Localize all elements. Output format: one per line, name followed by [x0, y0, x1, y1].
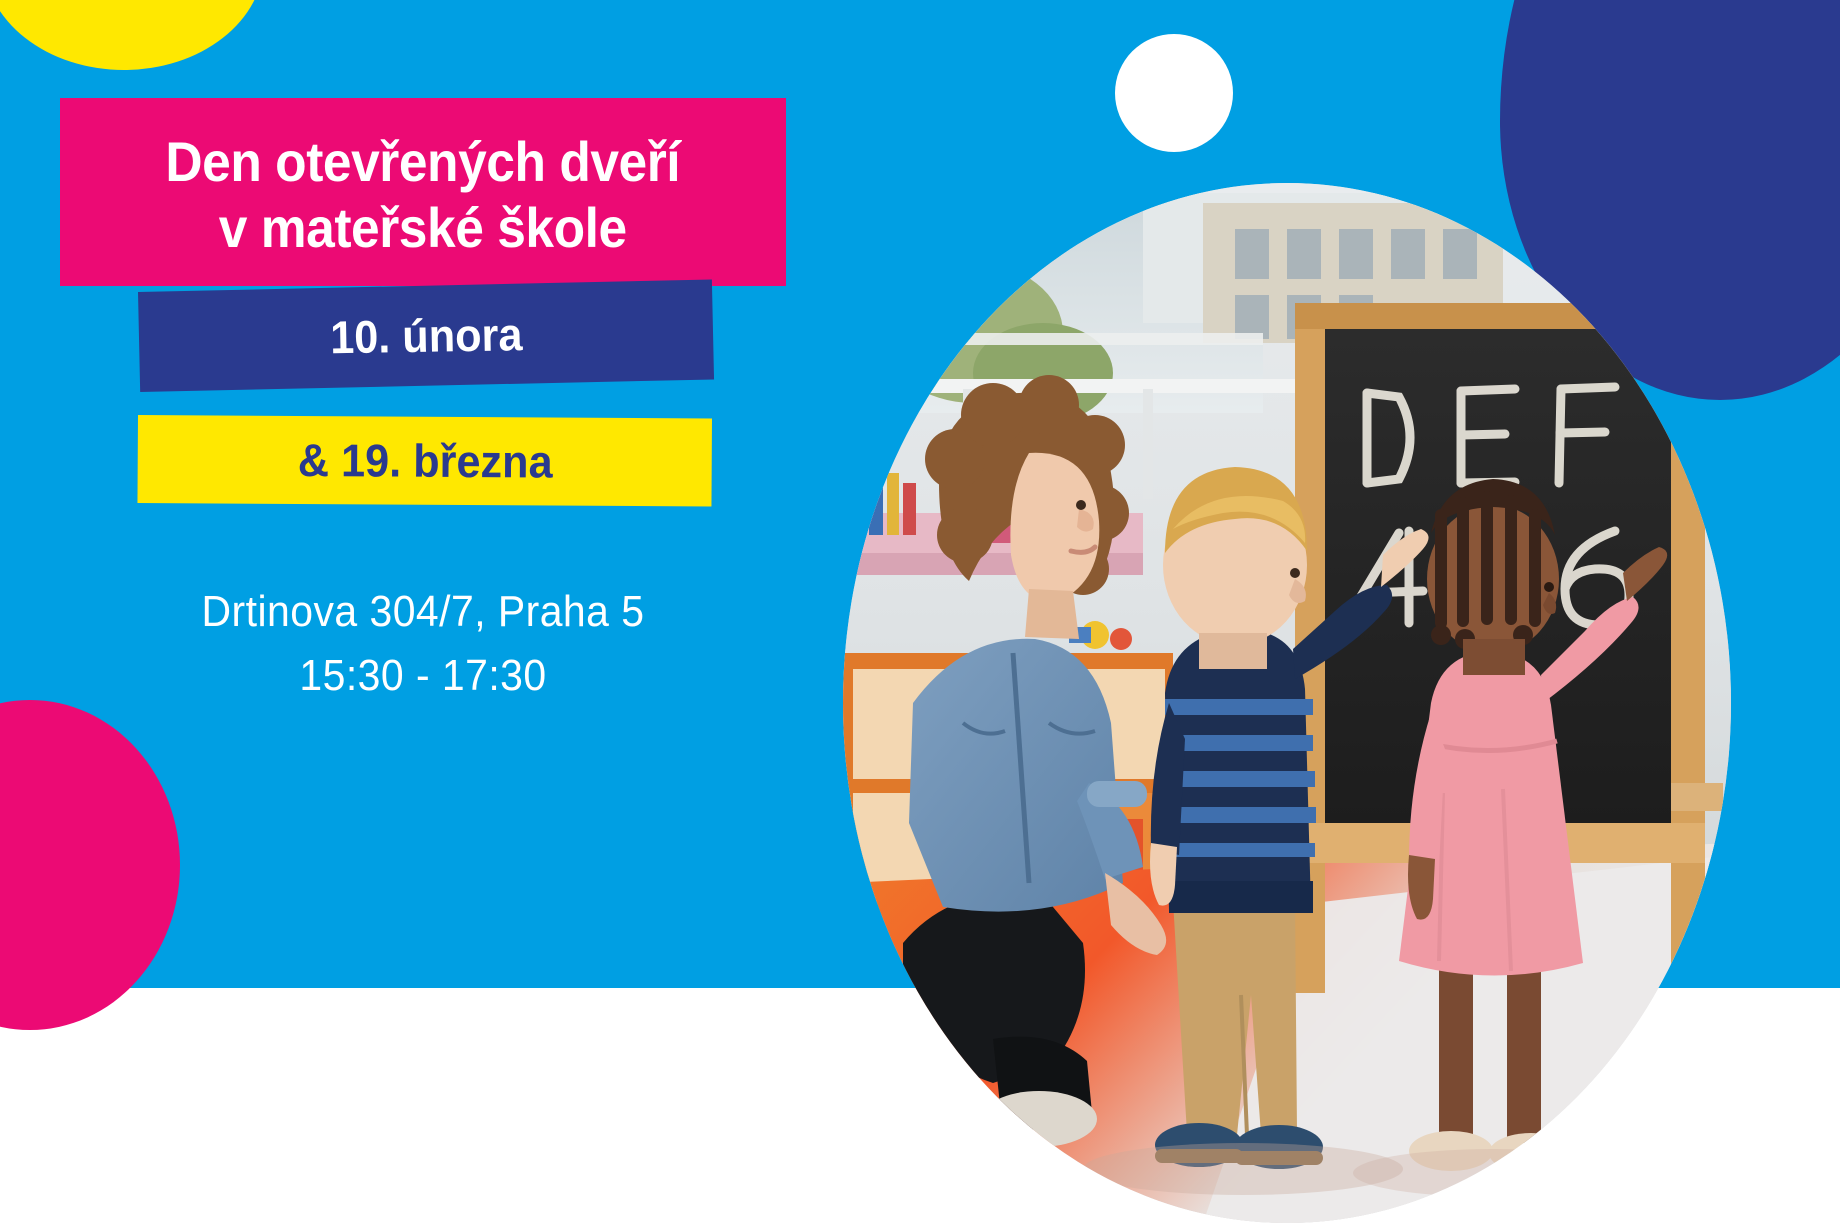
classroom-photo: [843, 183, 1731, 1223]
date-second-label: & 19. března: [297, 433, 552, 489]
decorative-white-oval: [1115, 34, 1233, 152]
event-address: Drtinova 304/7, Praha 5: [85, 580, 760, 644]
date-first-label: 10. února: [329, 307, 522, 364]
classroom-photo-illustration: [843, 183, 1731, 1223]
poster-canvas: Den otevřených dveří v mateřské škole 10…: [0, 0, 1840, 1227]
event-details: Drtinova 304/7, Praha 5 15:30 - 17:30: [60, 580, 786, 708]
title-banner: Den otevřených dveří v mateřské škole: [60, 98, 786, 286]
title-line-2: v mateřské škole: [219, 195, 627, 261]
date-banner-second: & 19. března: [137, 415, 712, 507]
date-banner-first: 10. února: [138, 279, 714, 391]
title-line-1: Den otevřených dveří: [166, 129, 681, 195]
event-time: 15:30 - 17:30: [85, 644, 760, 708]
